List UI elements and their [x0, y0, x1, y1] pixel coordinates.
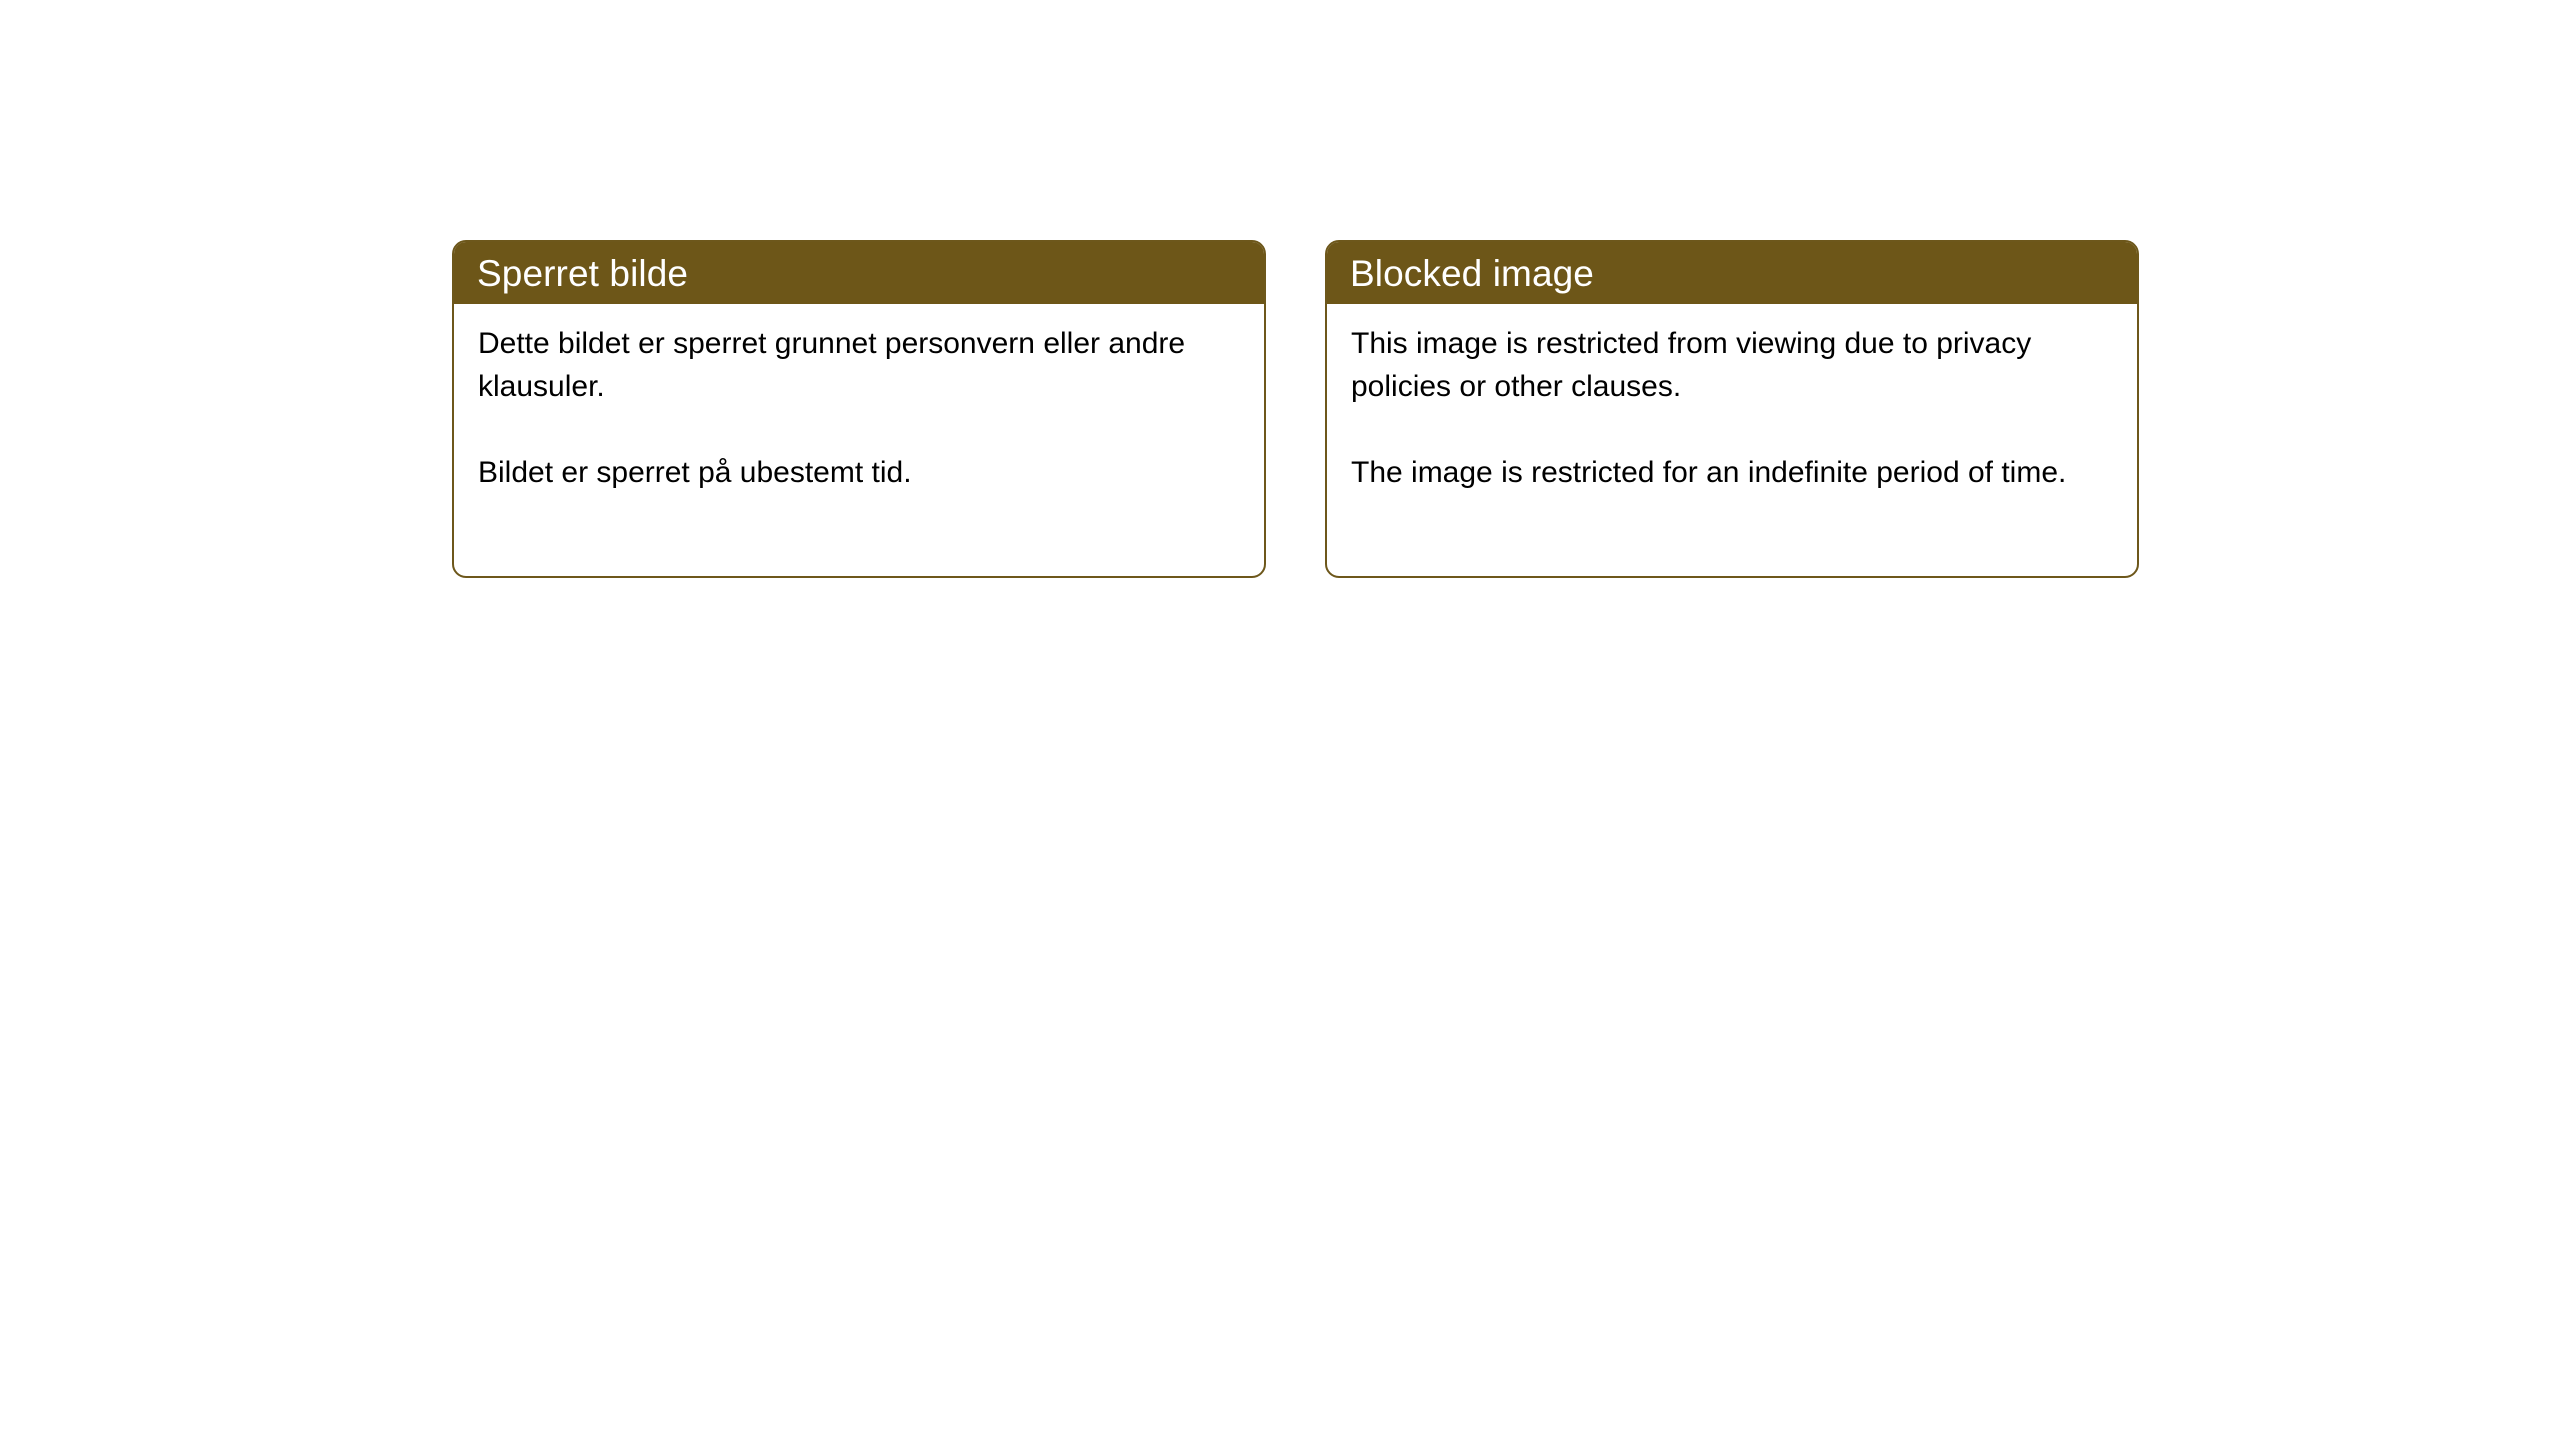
- blocked-image-notice-english: Blocked image This image is restricted f…: [1325, 240, 2139, 578]
- card-paragraph-duration-english: The image is restricted for an indefinit…: [1351, 451, 2091, 494]
- card-body-norwegian: Dette bildet er sperret grunnet personve…: [454, 304, 1264, 494]
- page-root: Sperret bilde Dette bildet er sperret gr…: [0, 0, 2560, 1440]
- blocked-image-notice-norwegian: Sperret bilde Dette bildet er sperret gr…: [452, 240, 1266, 578]
- card-paragraph-reason-english: This image is restricted from viewing du…: [1351, 322, 2091, 408]
- card-paragraph-duration-norwegian: Bildet er sperret på ubestemt tid.: [478, 451, 1218, 494]
- card-body-english: This image is restricted from viewing du…: [1327, 304, 2137, 494]
- card-header-norwegian: Sperret bilde: [454, 242, 1264, 304]
- card-header-english: Blocked image: [1327, 242, 2137, 304]
- card-paragraph-reason-norwegian: Dette bildet er sperret grunnet personve…: [478, 322, 1218, 408]
- card-title-norwegian: Sperret bilde: [477, 255, 688, 292]
- card-title-english: Blocked image: [1350, 255, 1594, 292]
